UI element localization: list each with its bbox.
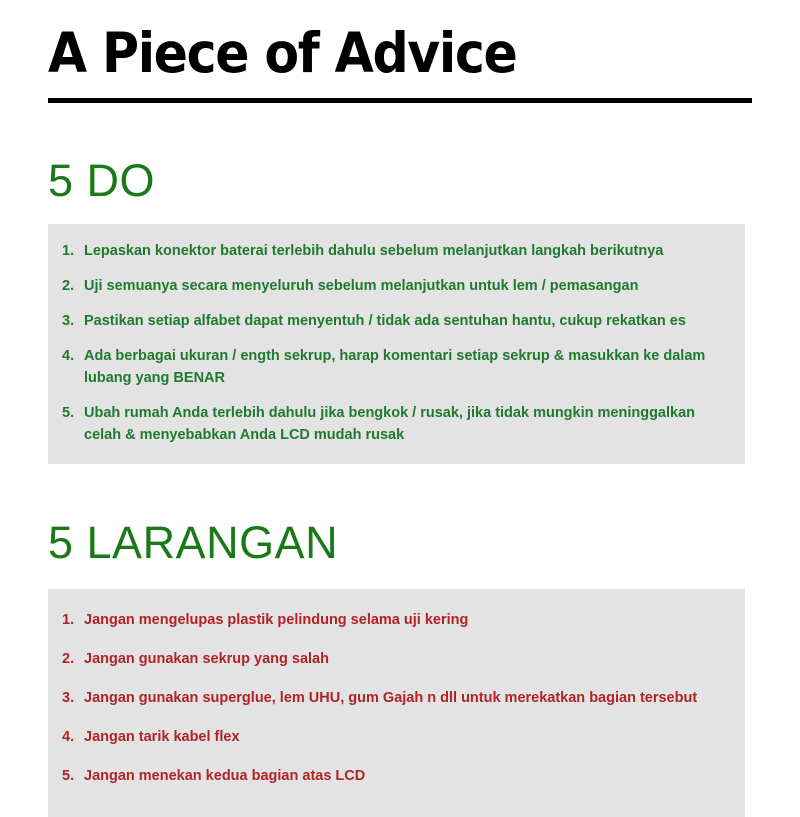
list-item-number: 3. bbox=[58, 310, 84, 332]
dont-panel: 1. Jangan mengelupas plastik pelindung s… bbox=[48, 589, 745, 817]
list-item: 5. Jangan menekan kedua bagian atas LCD bbox=[58, 765, 723, 787]
title-divider bbox=[48, 98, 752, 103]
title-block: A Piece of Advice bbox=[48, 0, 752, 103]
list-item-text: Pastikan setiap alfabet dapat menyentuh … bbox=[84, 310, 723, 332]
list-item-text: Lepaskan konektor baterai terlebih dahul… bbox=[84, 240, 723, 262]
section-heading-dont: 5 LARANGAN bbox=[48, 520, 752, 565]
list-item: 5. Ubah rumah Anda terlebih dahulu jika … bbox=[58, 402, 723, 446]
list-item: 4. Ada berbagai ukuran / ength sekrup, h… bbox=[58, 345, 723, 389]
list-item: 2. Jangan gunakan sekrup yang salah bbox=[58, 648, 723, 670]
do-list: 1. Lepaskan konektor baterai terlebih da… bbox=[58, 240, 723, 446]
list-item: 1. Jangan mengelupas plastik pelindung s… bbox=[58, 609, 723, 631]
list-item: 3. Pastikan setiap alfabet dapat menyent… bbox=[58, 310, 723, 332]
section-heading-do: 5 DO bbox=[48, 158, 752, 203]
list-item-text: Ada berbagai ukuran / ength sekrup, hara… bbox=[84, 345, 723, 389]
list-item-number: 1. bbox=[58, 240, 84, 262]
list-item-text: Uji semuanya secara menyeluruh sebelum m… bbox=[84, 275, 723, 297]
list-item: 4. Jangan tarik kabel flex bbox=[58, 726, 723, 748]
list-item-text: Jangan mengelupas plastik pelindung sela… bbox=[84, 609, 723, 631]
list-item-text: Jangan tarik kabel flex bbox=[84, 726, 723, 748]
list-item: 1. Lepaskan konektor baterai terlebih da… bbox=[58, 240, 723, 262]
list-item-number: 5. bbox=[58, 765, 84, 787]
list-item-number: 3. bbox=[58, 687, 84, 709]
list-item-number: 4. bbox=[58, 345, 84, 367]
list-item-text: Jangan menekan kedua bagian atas LCD bbox=[84, 765, 723, 787]
list-item-number: 2. bbox=[58, 275, 84, 297]
dont-list: 1. Jangan mengelupas plastik pelindung s… bbox=[58, 609, 723, 787]
list-item-text: Ubah rumah Anda terlebih dahulu jika ben… bbox=[84, 402, 723, 446]
page-title: A Piece of Advice bbox=[48, 26, 696, 81]
list-item-number: 4. bbox=[58, 726, 84, 748]
list-item-text: Jangan gunakan superglue, lem UHU, gum G… bbox=[84, 687, 723, 709]
list-item-number: 5. bbox=[58, 402, 84, 424]
list-item: 3. Jangan gunakan superglue, lem UHU, gu… bbox=[58, 687, 723, 709]
list-item-number: 1. bbox=[58, 609, 84, 631]
list-item-number: 2. bbox=[58, 648, 84, 670]
list-item: 2. Uji semuanya secara menyeluruh sebelu… bbox=[58, 275, 723, 297]
advice-page: A Piece of Advice 5 DO 1. Lepaskan konek… bbox=[0, 0, 800, 800]
do-panel: 1. Lepaskan konektor baterai terlebih da… bbox=[48, 224, 745, 464]
list-item-text: Jangan gunakan sekrup yang salah bbox=[84, 648, 723, 670]
